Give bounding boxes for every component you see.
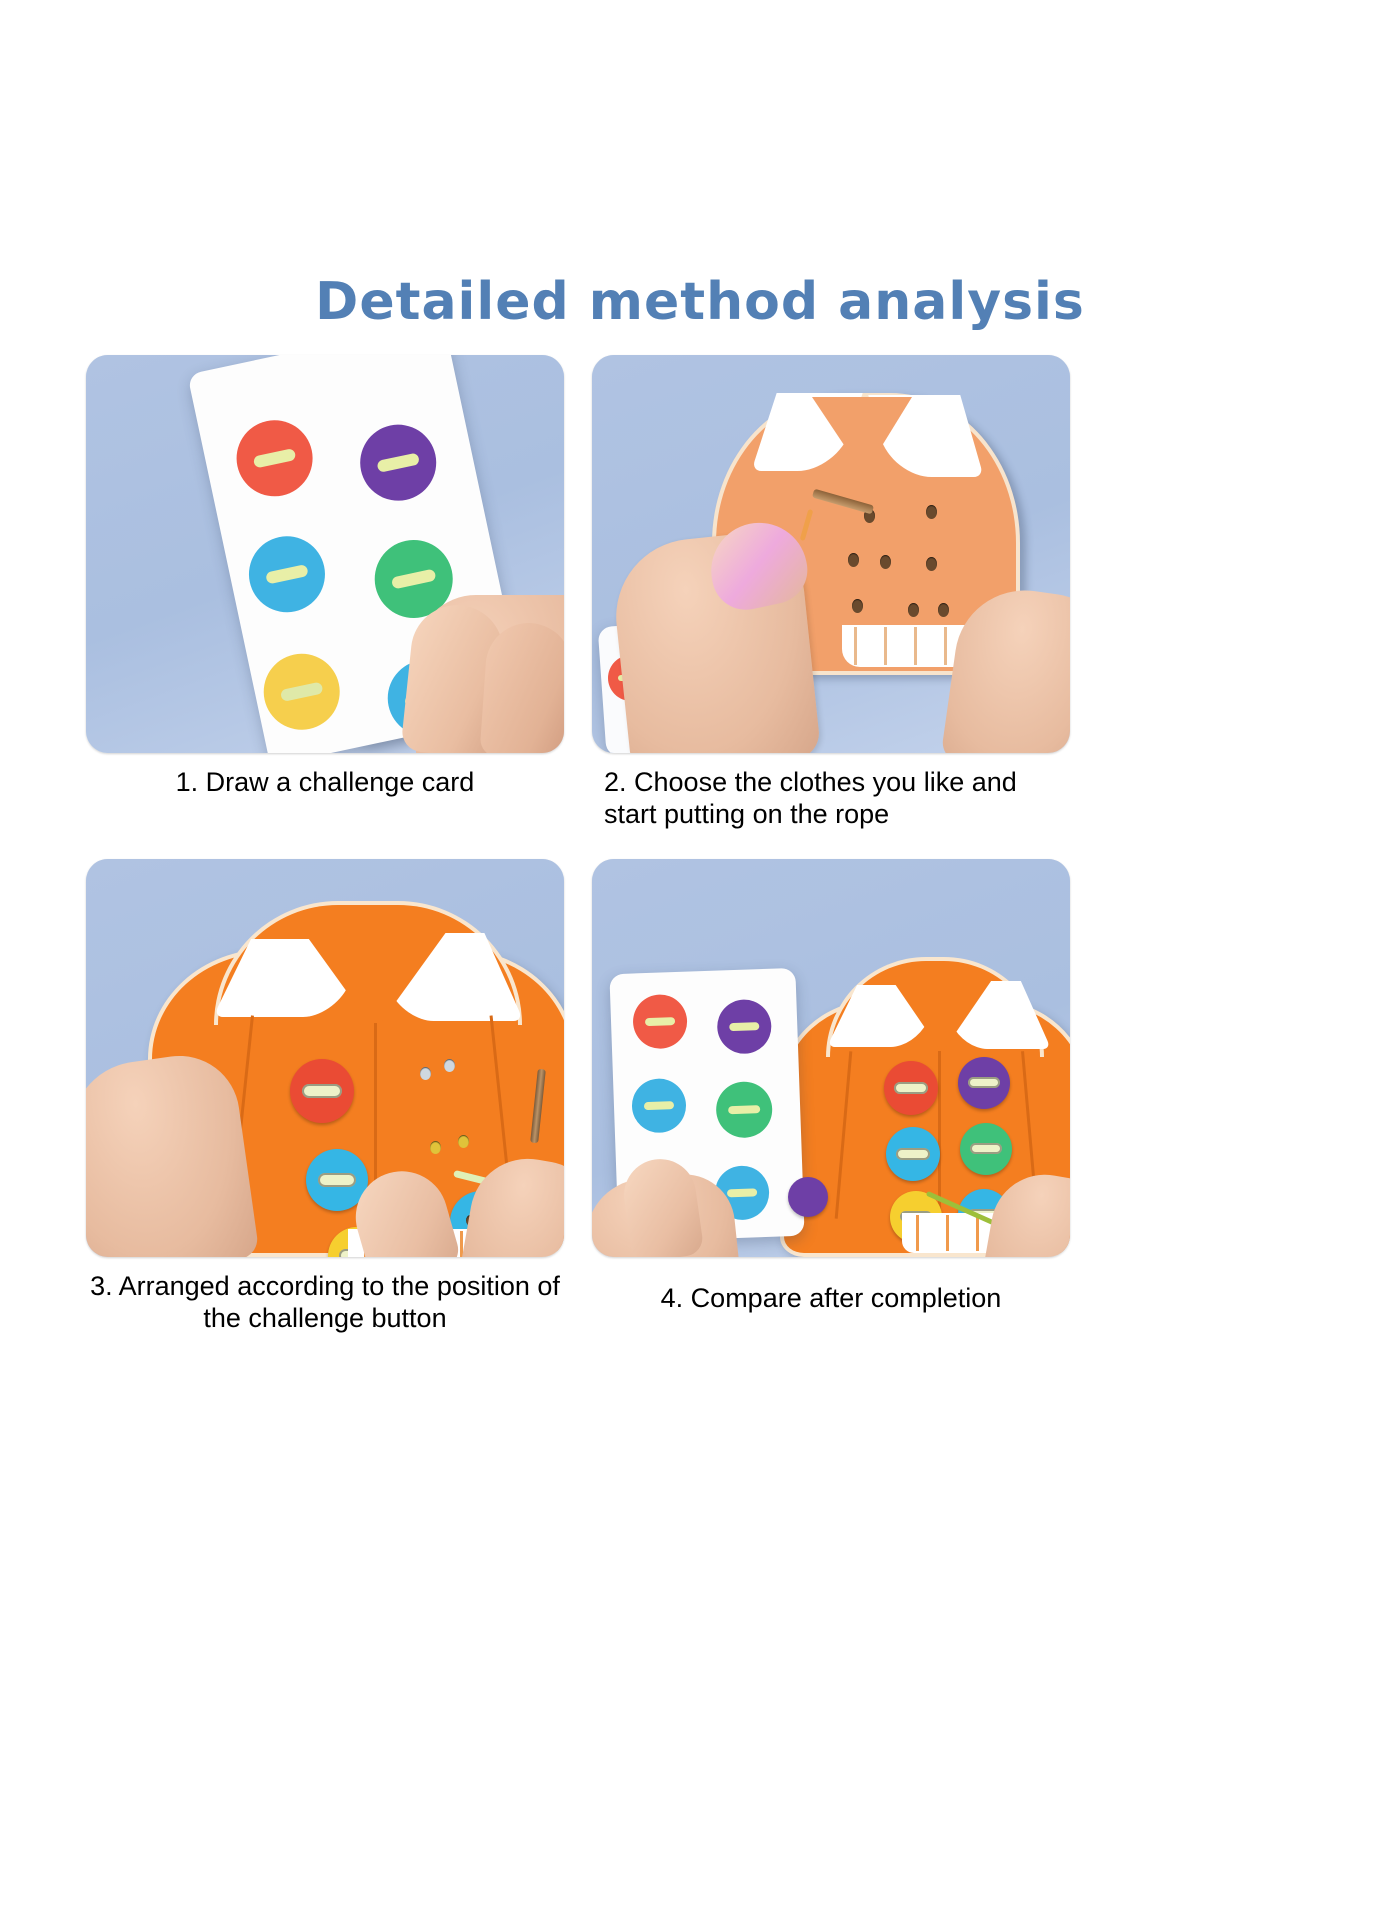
hole-7	[908, 603, 919, 617]
step-cell-3: 3. Arranged according to the position of…	[86, 859, 564, 1355]
purple-dot	[716, 998, 772, 1054]
hole-2	[444, 1059, 455, 1072]
step-photo-2	[592, 355, 1070, 753]
hole-8	[938, 603, 949, 617]
hole-4	[458, 1135, 469, 1148]
hem-line-3	[914, 627, 917, 665]
hole-2	[926, 505, 937, 519]
step-caption-1: 1. Draw a challenge card	[86, 753, 564, 827]
step-caption-2: 2. Choose the clothes you like and start…	[592, 753, 1070, 851]
green-dot	[715, 1080, 773, 1138]
yellow-dot	[257, 647, 347, 737]
step-cell-4: 4. Compare after completion	[592, 859, 1070, 1355]
hole-4	[880, 555, 891, 569]
red-button	[884, 1061, 938, 1115]
hole-3	[430, 1141, 441, 1154]
red-button	[290, 1059, 354, 1123]
hole-3	[848, 553, 859, 567]
green-button	[960, 1123, 1012, 1175]
hem-line-1	[854, 627, 857, 665]
hem-line-1	[916, 1215, 919, 1251]
hem-line-2	[946, 1215, 949, 1251]
red-dot	[230, 413, 320, 503]
red-dot	[632, 993, 688, 1049]
page-title: Detailed method analysis	[0, 272, 1400, 332]
step-caption-3: 3. Arranged according to the position of…	[86, 1257, 564, 1355]
step-photo-1	[86, 355, 564, 753]
step-caption-4: 4. Compare after completion	[592, 1257, 1070, 1335]
hem-line-2	[884, 627, 887, 665]
step-cell-2: 2. Choose the clothes you like and start…	[592, 355, 1070, 851]
step-photo-3	[86, 859, 564, 1257]
step-cell-1: 1. Draw a challenge card	[86, 355, 564, 851]
step-photo-4	[592, 859, 1070, 1257]
hole-5	[926, 557, 937, 571]
hole-6	[852, 599, 863, 613]
purple-loose-button	[788, 1177, 828, 1217]
purple-button	[958, 1057, 1010, 1109]
hem-line-4	[944, 627, 947, 665]
purple-dot	[353, 418, 443, 508]
blue-dot	[242, 529, 332, 619]
method-steps-grid: 1. Draw a challenge card	[86, 355, 1086, 1354]
blue-dot	[631, 1077, 687, 1133]
hole-1	[420, 1067, 431, 1080]
cyan-button	[886, 1127, 940, 1181]
hem-line-3	[976, 1215, 979, 1251]
